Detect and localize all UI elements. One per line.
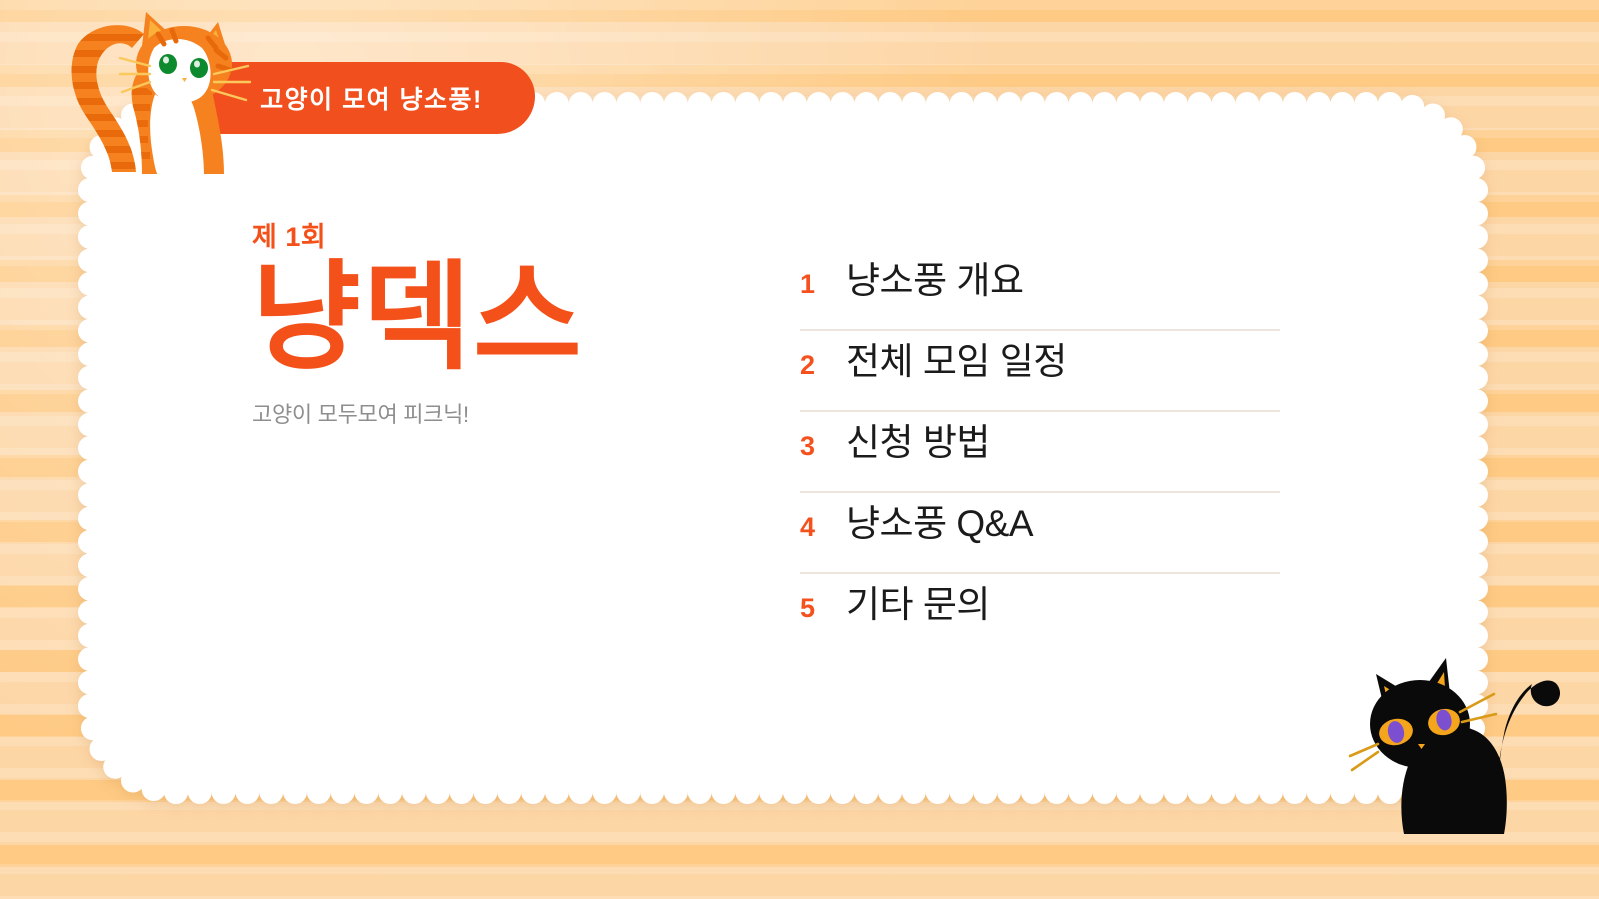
toc-item-2[interactable]: 2 전체 모임 일정 <box>800 331 1280 412</box>
subtitle: 고양이 모두모여 피크닉! <box>252 397 584 429</box>
toc-item-label: 냥소풍 Q&A <box>846 493 1033 547</box>
toc-item-label: 냥소풍 개요 <box>846 250 1023 304</box>
slide-canvas: 고양이 모여 냥소풍! <box>0 0 1599 899</box>
toc-item-label: 전체 모임 일정 <box>846 331 1067 385</box>
toc-item-number: 4 <box>800 512 846 543</box>
page-title: 냥덱스 <box>252 257 584 381</box>
table-of-contents: 1 냥소풍 개요 2 전체 모임 일정 3 신청 방법 4 냥소풍 Q&A 5 … <box>800 250 1280 655</box>
edition-label: 제 1회 <box>252 224 584 251</box>
black-cat-icon <box>1348 628 1568 843</box>
toc-item-label: 신청 방법 <box>846 412 990 466</box>
toc-item-3[interactable]: 3 신청 방법 <box>800 412 1280 493</box>
title-block: 제 1회 냥덱스 고양이 모두모여 피크닉! <box>252 224 584 429</box>
toc-item-number: 5 <box>800 593 846 624</box>
toc-item-number: 3 <box>800 431 846 462</box>
toc-item-number: 2 <box>800 350 846 381</box>
toc-item-5[interactable]: 5 기타 문의 <box>800 574 1280 655</box>
toc-item-number: 1 <box>800 269 846 300</box>
toc-item-label: 기타 문의 <box>846 574 990 628</box>
toc-item-4[interactable]: 4 냥소풍 Q&A <box>800 493 1280 574</box>
toc-item-1[interactable]: 1 냥소풍 개요 <box>800 250 1280 331</box>
orange-tabby-cat-icon <box>58 4 258 189</box>
